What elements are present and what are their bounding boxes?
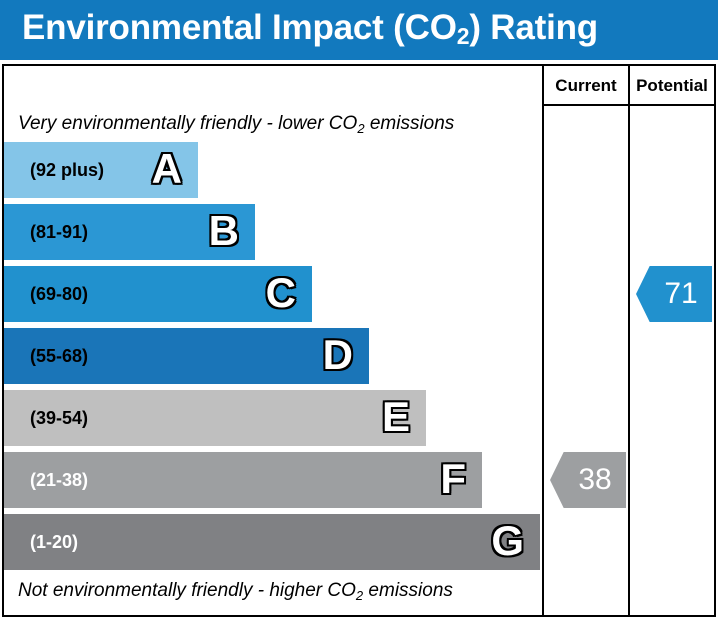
rating-band-range-c: (69-80) — [30, 266, 88, 322]
divider-header-row — [542, 104, 714, 106]
caption-top-prefix: Very environmentally friendly - lower CO — [18, 113, 357, 134]
caption-top-suffix: emissions — [365, 113, 455, 134]
current-rating-marker: 38 — [550, 452, 626, 508]
rating-band-letter-c: C — [266, 266, 296, 322]
rating-band-e: (39-54)E — [4, 390, 426, 446]
rating-band-range-g: (1-20) — [30, 514, 78, 570]
caption-bottom: Not environmentally friendly - higher CO… — [18, 577, 538, 605]
chart-table-frame: Current Potential Very environmentally f… — [2, 64, 716, 617]
divider-current-column — [542, 66, 544, 615]
caption-bottom-subscript: 2 — [356, 588, 363, 603]
page-title-prefix: Environmental Impact (CO — [22, 8, 457, 47]
caption-top-subscript: 2 — [357, 121, 364, 136]
rating-band-d: (55-68)D — [4, 328, 369, 384]
rating-band-letter-d: D — [323, 328, 353, 384]
current-rating-value: 38 — [550, 452, 626, 508]
epc-environmental-impact-chart: Environmental Impact (CO2) Rating Curren… — [0, 0, 718, 619]
page-title-subscript: 2 — [457, 23, 470, 49]
page-title: Environmental Impact (CO2) Rating — [22, 8, 598, 48]
rating-band-a: (92 plus)A — [4, 142, 198, 198]
caption-bottom-suffix: emissions — [363, 580, 453, 601]
caption-top: Very environmentally friendly - lower CO… — [18, 110, 538, 138]
chart-title-bar: Environmental Impact (CO2) Rating — [0, 0, 718, 60]
caption-bottom-prefix: Not environmentally friendly - higher CO — [18, 580, 356, 601]
rating-band-g: (1-20)G — [4, 514, 540, 570]
rating-band-letter-f: F — [440, 452, 466, 508]
potential-rating-marker: 71 — [636, 266, 712, 322]
rating-band-range-e: (39-54) — [30, 390, 88, 446]
rating-band-range-f: (21-38) — [30, 452, 88, 508]
potential-rating-value: 71 — [636, 266, 712, 322]
page-title-suffix: ) Rating — [469, 8, 598, 47]
rating-band-range-a: (92 plus) — [30, 142, 104, 198]
rating-band-range-b: (81-91) — [30, 204, 88, 260]
rating-band-c: (69-80)C — [4, 266, 312, 322]
column-header-potential: Potential — [630, 74, 714, 100]
rating-band-b: (81-91)B — [4, 204, 255, 260]
rating-band-f: (21-38)F — [4, 452, 482, 508]
rating-band-letter-a: A — [152, 142, 182, 198]
rating-band-letter-g: G — [491, 514, 524, 570]
rating-band-range-d: (55-68) — [30, 328, 88, 384]
divider-potential-column — [628, 66, 630, 615]
rating-band-letter-e: E — [382, 390, 410, 446]
column-header-current: Current — [544, 74, 628, 100]
rating-band-letter-b: B — [209, 204, 239, 260]
